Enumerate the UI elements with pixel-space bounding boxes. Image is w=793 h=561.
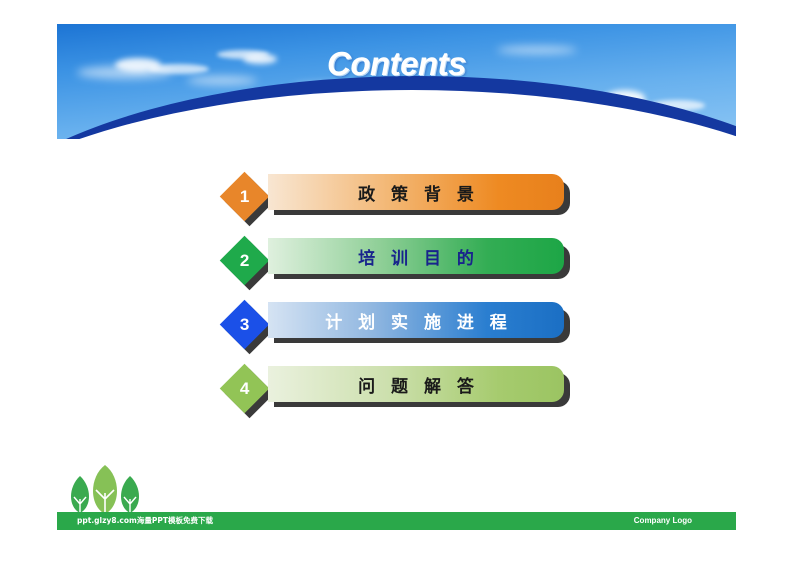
row-number-badge[interactable]: 3 (220, 300, 270, 350)
row-number-badge[interactable]: 1 (220, 172, 270, 222)
three-trees-logo (62, 463, 148, 515)
list-item[interactable]: 2 培 训 目 的 (0, 228, 793, 292)
bar-surface: 问 题 解 答 (268, 366, 564, 402)
row-label: 问 题 解 答 (353, 372, 479, 397)
row-number: 1 (240, 188, 249, 205)
bar-surface: 计 划 实 施 进 程 (268, 302, 564, 338)
row-number-badge[interactable]: 4 (220, 364, 270, 414)
row-bar[interactable]: 计 划 实 施 进 程 (268, 302, 564, 338)
row-label: 计 划 实 施 进 程 (320, 308, 512, 333)
row-number: 2 (240, 252, 249, 269)
row-number: 3 (240, 316, 249, 333)
row-bar[interactable]: 培 训 目 的 (268, 238, 564, 274)
row-number: 4 (240, 380, 249, 397)
row-bar[interactable]: 问 题 解 答 (268, 366, 564, 402)
row-bar[interactable]: 政 策 背 景 (268, 174, 564, 210)
footer-bar: ppt.glzy8.com海量PPT模板免费下载 Company Logo (57, 512, 736, 530)
slide-canvas: Contents 1 政 策 背 景 2 (0, 0, 793, 561)
list-item[interactable]: 3 计 划 实 施 进 程 (0, 292, 793, 356)
bar-surface: 培 训 目 的 (268, 238, 564, 274)
footer-site-text: ppt.glzy8.com海量PPT模板免费下载 (77, 512, 213, 530)
row-label: 政 策 背 景 (353, 180, 479, 205)
list-item[interactable]: 1 政 策 背 景 (0, 164, 793, 228)
row-label: 培 训 目 的 (353, 244, 479, 269)
footer-company-logo: Company Logo (634, 512, 692, 530)
row-number-badge[interactable]: 2 (220, 236, 270, 286)
contents-list: 1 政 策 背 景 2 培 训 目 的 (0, 164, 793, 420)
bar-surface: 政 策 背 景 (268, 174, 564, 210)
page-title: Contents (57, 45, 736, 83)
list-item[interactable]: 4 问 题 解 答 (0, 356, 793, 420)
header-banner: Contents (57, 24, 736, 139)
